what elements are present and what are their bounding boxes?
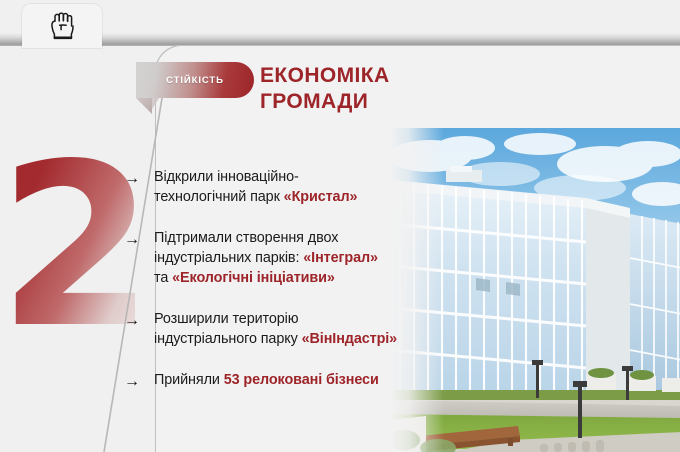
list-item: → Відкрили інноваційно- технологічний па… <box>124 167 509 207</box>
arrow-icon: → <box>124 228 154 250</box>
line-2-plain: індустріального парку <box>154 331 302 347</box>
line-3-plain: та <box>154 270 172 286</box>
line-1: Розширили територію <box>154 311 298 327</box>
raised-fist-icon <box>47 10 77 43</box>
ribbon-label: СТІЙКІСТЬ <box>166 75 224 86</box>
line-2-highlight: «Інтеграл» <box>303 250 378 266</box>
list-item-text: Розширили територію індустріального парк… <box>154 309 397 349</box>
list-item: → Розширили територію індустріального па… <box>124 309 509 349</box>
line-2-highlight: 53 релоковані бізнеси <box>224 372 379 388</box>
ribbon-tag: СТІЙКІСТЬ <box>136 62 254 98</box>
fist-icon-wrapper <box>22 10 102 43</box>
ribbon-body: СТІЙКІСТЬ <box>136 62 254 98</box>
bullet-list: → Відкрили інноваційно- технологічний па… <box>124 167 509 392</box>
title-line-1: ЕКОНОМІКА <box>260 63 390 89</box>
fist-tab[interactable] <box>22 4 102 48</box>
line-2-highlight: «Кристал» <box>284 189 358 205</box>
list-item-text: Відкрили інноваційно- технологічний парк… <box>154 167 357 207</box>
slide-root: 2 СТІЙКІСТЬ <box>0 0 680 452</box>
list-item: → Прийняли 53 релоковані бізнеси <box>124 370 509 392</box>
list-item-text: Підтримали створення двох індустріальних… <box>154 228 378 288</box>
line-2-highlight: «ВінІндастрі» <box>302 331 397 347</box>
ribbon-fold <box>136 98 152 114</box>
line-3-highlight: «Екологічні ініціативи» <box>172 270 335 286</box>
page-title: ЕКОНОМІКА ГРОМАДИ <box>260 63 390 115</box>
line-2-plain: індустріальних парків: <box>154 250 303 266</box>
line-1: Підтримали створення двох <box>154 230 338 246</box>
title-line-2: ГРОМАДИ <box>260 89 390 115</box>
line-2-plain: технологічний парк <box>154 189 284 205</box>
arrow-icon: → <box>124 370 154 392</box>
arrow-icon: → <box>124 309 154 331</box>
list-item: → Підтримали створення двох індустріальн… <box>124 228 509 288</box>
line-2-plain: Прийняли <box>154 372 224 388</box>
list-item-text: Прийняли 53 релоковані бізнеси <box>154 370 379 390</box>
line-1: Відкрили інноваційно- <box>154 169 299 185</box>
arrow-icon: → <box>124 167 154 189</box>
